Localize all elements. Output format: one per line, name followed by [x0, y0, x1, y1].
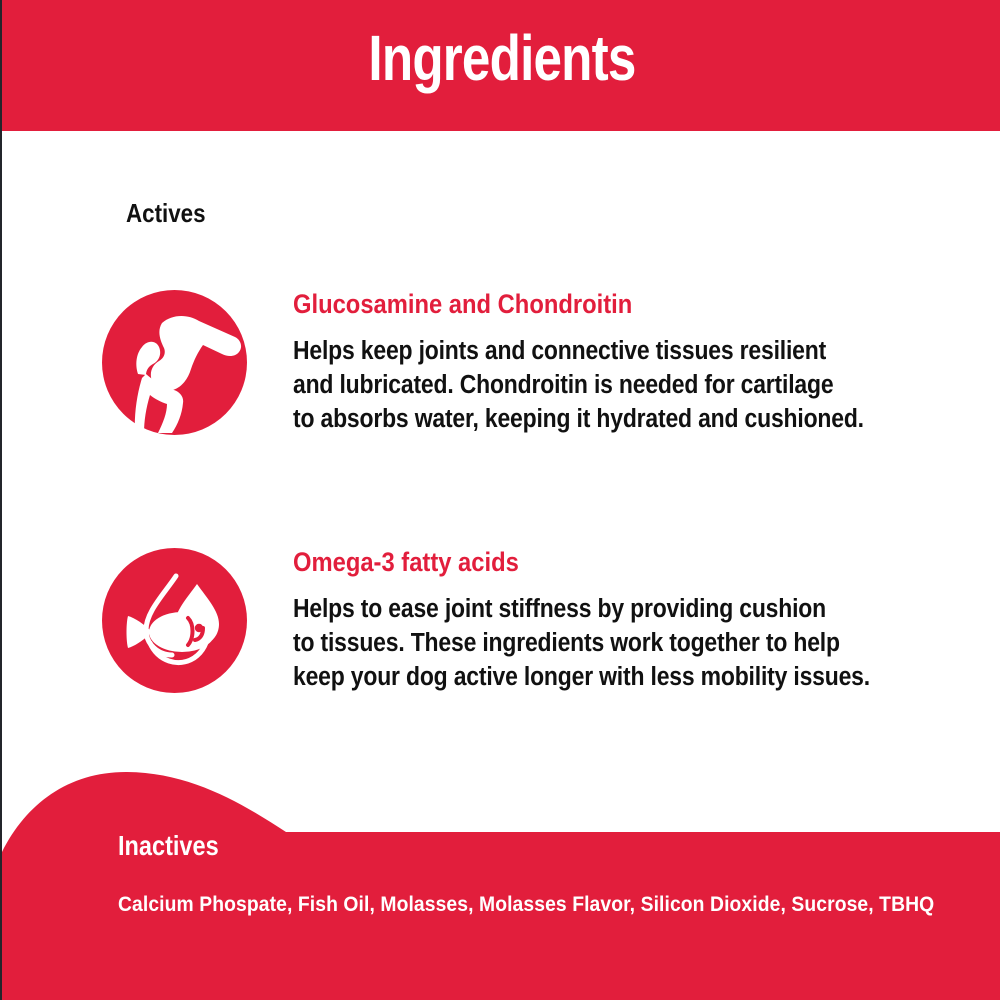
ingredients-infographic: Ingredients Actives Glucosamine and Chon…	[0, 0, 1000, 1000]
inactives-section-label: Inactives	[118, 830, 219, 862]
ingredient-description-line: Helps keep joints and connective tissues…	[293, 334, 923, 368]
ingredient-description-line: keep your dog active longer with less mo…	[293, 660, 923, 694]
curved-red-banner-shape	[2, 760, 1000, 1000]
fish-oil-drop-icon	[102, 548, 247, 693]
inactives-panel: Inactives Calcium Phospate, Fish Oil, Mo…	[2, 760, 1000, 1000]
ingredient-description-line: Helps to ease joint stiffness by providi…	[293, 592, 923, 626]
header-band: Ingredients	[2, 0, 1000, 131]
ingredient-title: Glucosamine and Chondroitin	[293, 290, 909, 320]
actives-section-label: Actives	[126, 198, 206, 229]
ingredient-text: Glucosamine and Chondroitin Helps keep j…	[293, 290, 993, 436]
bone-joint-icon	[102, 290, 247, 435]
ingredient-description-line: and lubricated. Chondroitin is needed fo…	[293, 368, 923, 402]
ingredient-description-line: to absorbs water, keeping it hydrated an…	[293, 402, 923, 436]
page-title: Ingredients	[102, 18, 902, 98]
ingredient-description-line: to tissues. These ingredients work toget…	[293, 626, 923, 660]
inactives-ingredient-list: Calcium Phospate, Fish Oil, Molasses, Mo…	[118, 893, 934, 917]
ingredient-title: Omega-3 fatty acids	[293, 548, 909, 578]
ingredient-text: Omega-3 fatty acids Helps to ease joint …	[293, 548, 993, 694]
